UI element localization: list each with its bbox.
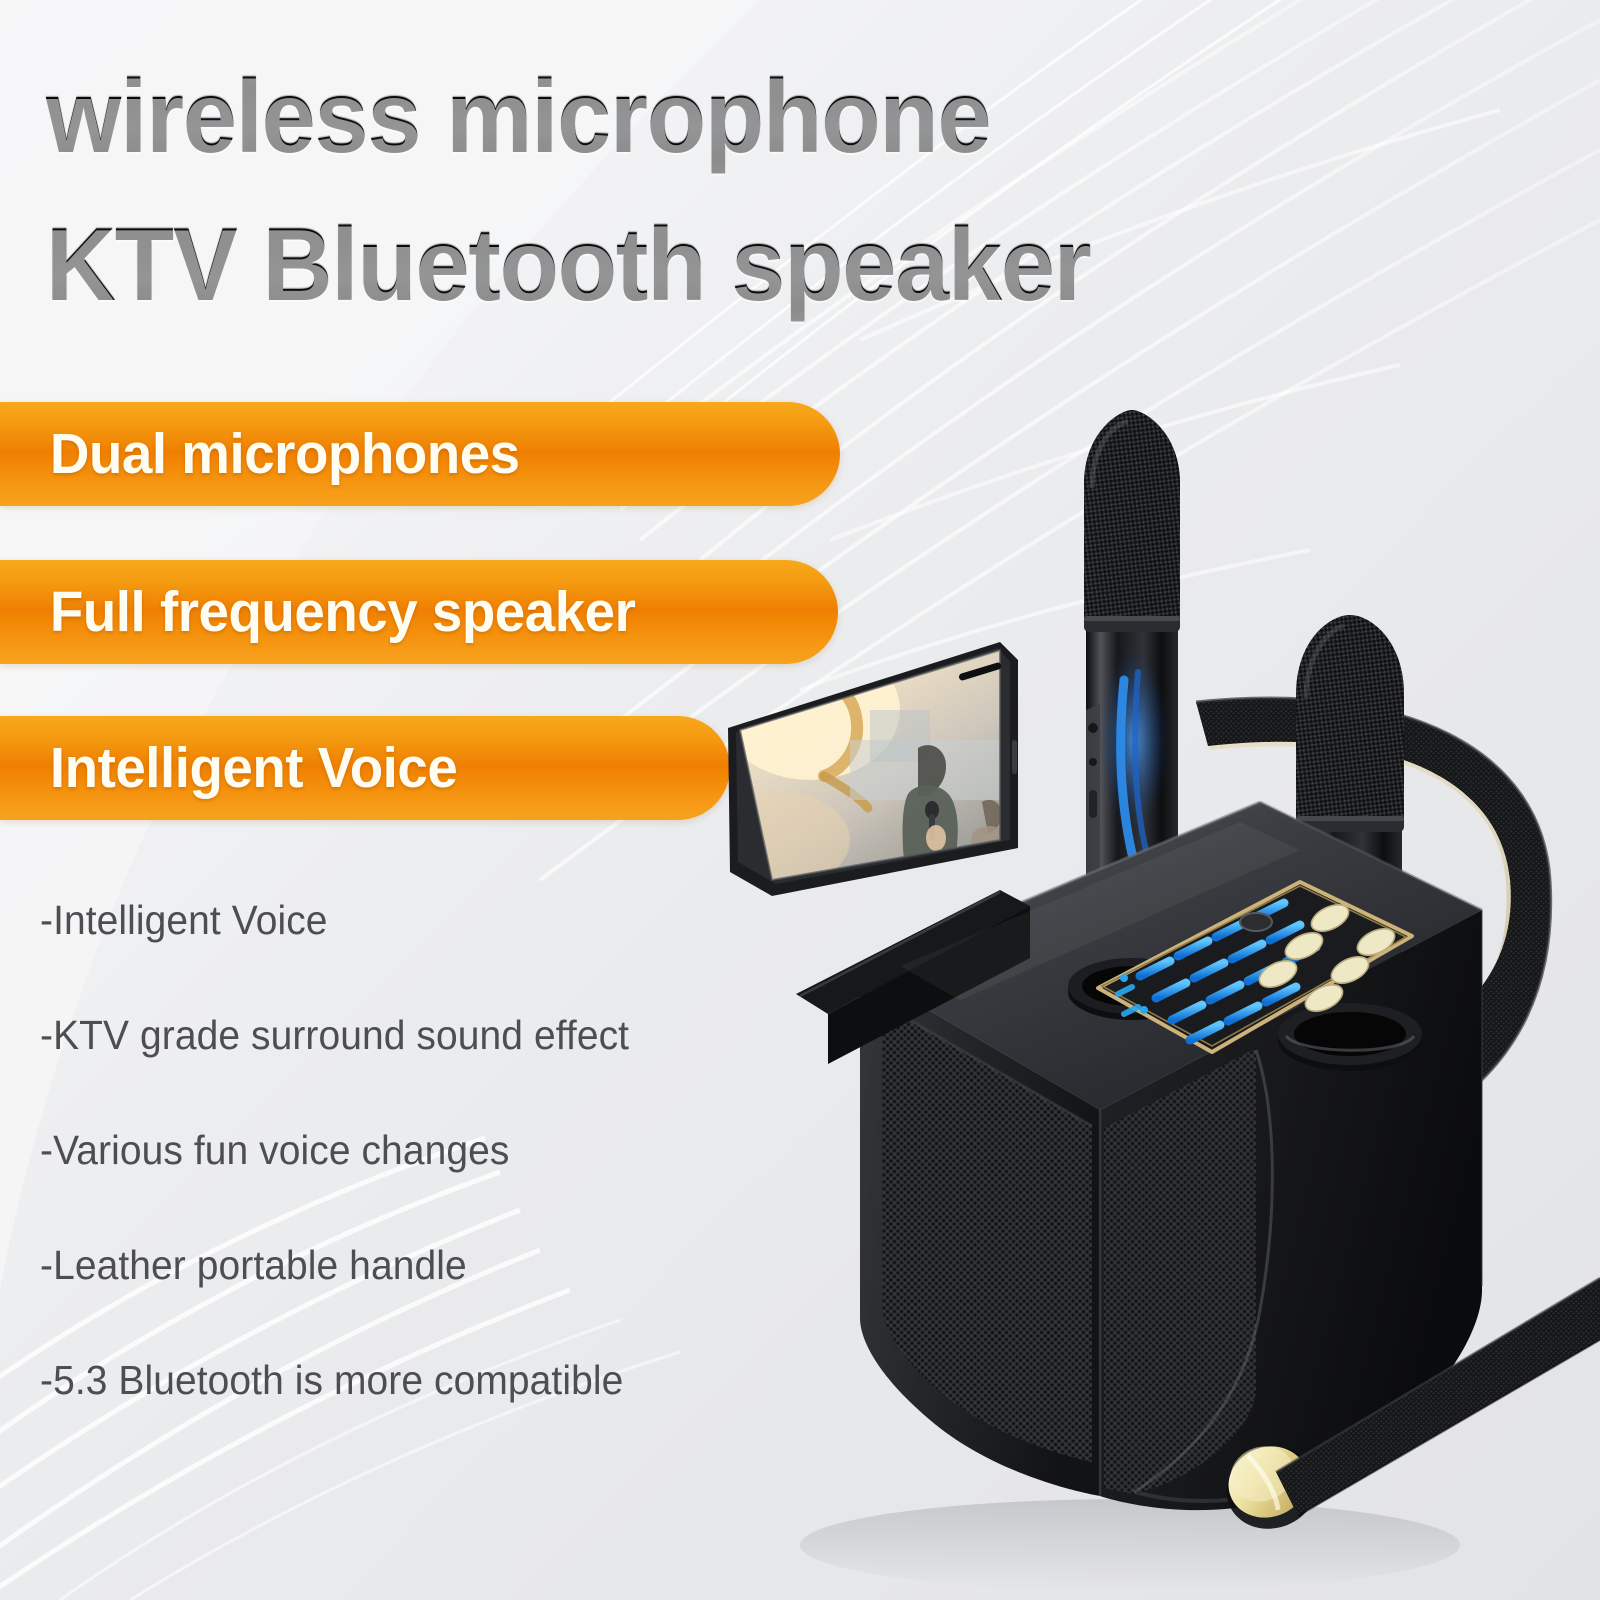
feature-pill-label: Dual microphones bbox=[0, 421, 520, 487]
bullet-item: -5.3 Bluetooth is more compatible bbox=[40, 1360, 686, 1401]
feature-pill-label: Full frequency speaker bbox=[0, 579, 635, 645]
bullet-item: -Various fun voice changes bbox=[40, 1130, 686, 1171]
bullet-item: -Intelligent Voice bbox=[40, 900, 686, 941]
product-image bbox=[700, 410, 1600, 1600]
product-shadow bbox=[800, 1499, 1460, 1591]
headline-block: wireless microphone KTV Bluetooth speake… bbox=[46, 44, 1346, 339]
headline-line-1: wireless microphone bbox=[46, 44, 1255, 192]
smartphone bbox=[710, 630, 1040, 910]
advertisement-canvas: wireless microphone KTV Bluetooth speake… bbox=[0, 0, 1600, 1600]
bullet-item: -KTV grade surround sound effect bbox=[40, 1015, 686, 1056]
bullet-item: -Leather portable handle bbox=[40, 1245, 686, 1286]
feature-bullet-list: -Intelligent Voice -KTV grade surround s… bbox=[40, 900, 720, 1475]
headline-line-2: KTV Bluetooth speaker bbox=[46, 192, 1255, 340]
product-illustration bbox=[700, 410, 1600, 1600]
feature-pill-intelligent-voice: Intelligent Voice bbox=[0, 716, 730, 820]
feature-pill-label: Intelligent Voice bbox=[0, 735, 457, 801]
